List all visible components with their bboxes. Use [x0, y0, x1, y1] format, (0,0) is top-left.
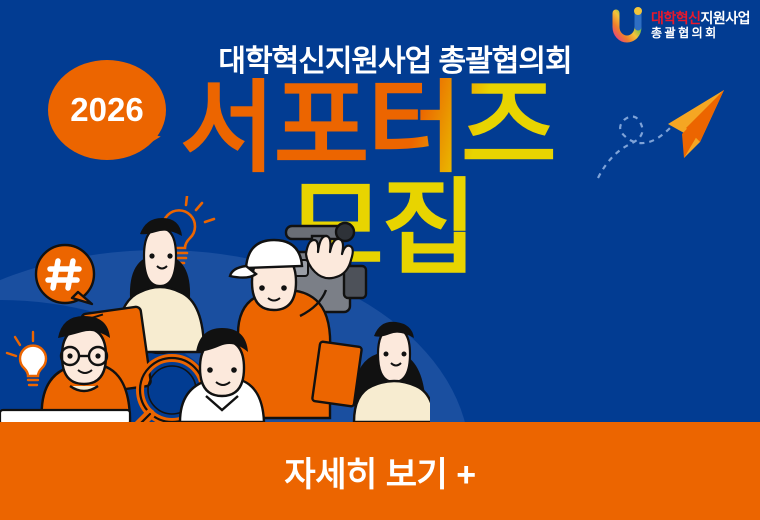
title-main: 서포터즈 [180, 78, 555, 177]
lightbulb-outline-small-icon [7, 332, 46, 385]
paper-plane-icon [668, 90, 724, 158]
paper-plane-graphic [596, 78, 760, 208]
desk-surface [0, 410, 130, 422]
logo-text-block: 대학혁신지원사업 총괄협의회 [651, 11, 750, 39]
people-illustration [0, 196, 430, 422]
logo-text-white: 지원사업 [701, 10, 751, 26]
hashtag-bubble-icon [36, 245, 94, 304]
cta-label: 자세히 보기 + [284, 447, 475, 496]
person-woman-right [354, 322, 430, 422]
logo-line-primary: 대학혁신지원사업 [651, 11, 750, 25]
promo-banner: 대학혁신지원사업 총괄협의회 대학혁신지원사업 총괄협의회 2026 서포터즈 … [0, 0, 760, 520]
plane-trail-icon [598, 116, 670, 178]
year-badge: 2026 [48, 60, 166, 160]
notebook-icon [312, 341, 362, 406]
logo-text-red: 대학혁신 [651, 10, 701, 26]
year-badge-label: 2026 [70, 91, 143, 129]
cta-button[interactable]: 자세히 보기 + [0, 422, 760, 520]
